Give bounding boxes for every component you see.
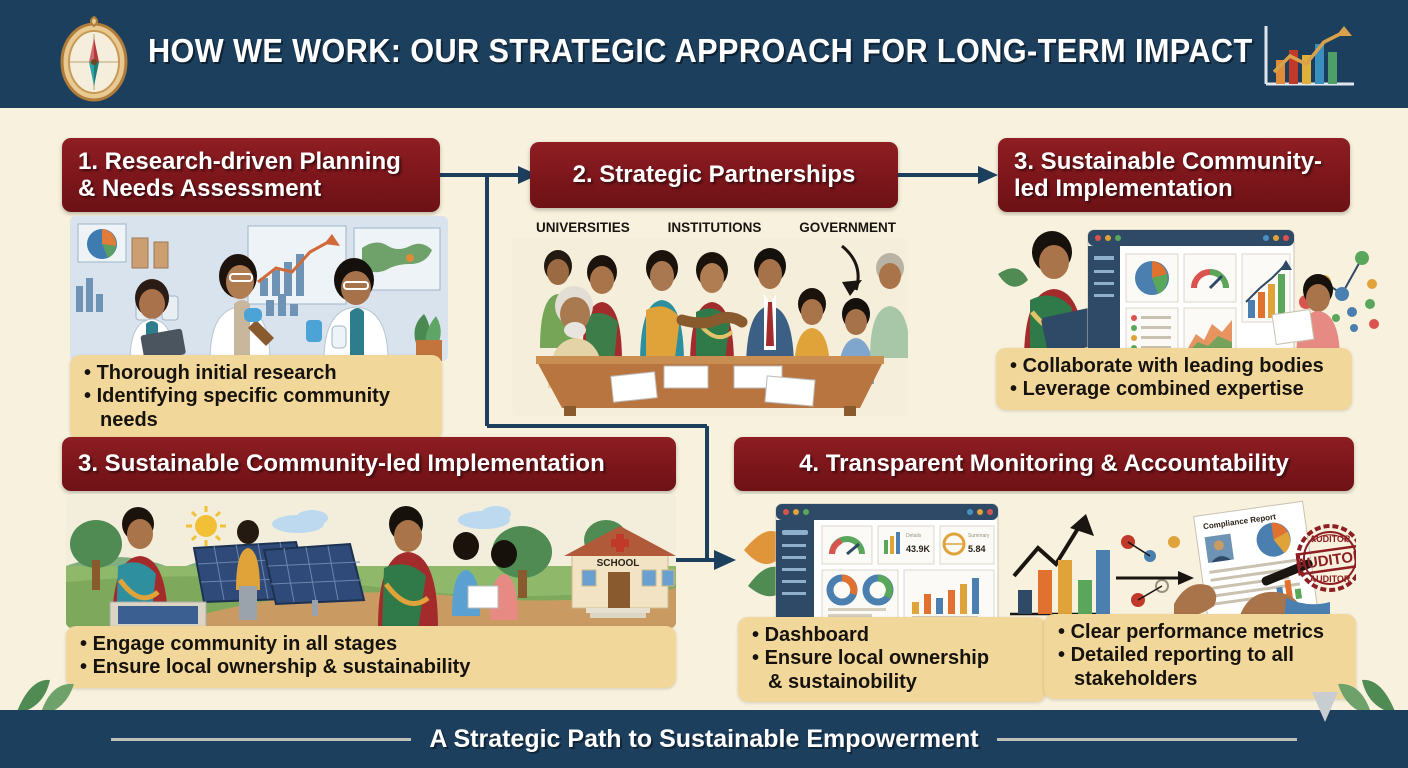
step-2-title: 2. Strategic Partnerships bbox=[573, 161, 856, 188]
kpi-value-1: 43.9K bbox=[906, 544, 931, 554]
step-card-4[interactable]: 4. Transparent Monitoring & Accountabili… bbox=[734, 437, 1354, 491]
step-card-2[interactable]: 2. Strategic Partnerships bbox=[530, 142, 898, 208]
list-item: Identifying specific community needs bbox=[84, 385, 428, 432]
footer-tagline: A Strategic Path to Sustainable Empowerm… bbox=[429, 725, 978, 754]
step-3-top-bullets: Collaborate with leading bodies Leverage… bbox=[996, 348, 1352, 410]
step-1-header: 1. Research-driven Planning & Needs Asse… bbox=[62, 138, 440, 212]
step-4-illustration: Details 43.9K Summary 5.84 bbox=[738, 494, 1356, 622]
step-3-top-header: 3. Sustainable Community- led Implementa… bbox=[998, 138, 1350, 212]
step-1-title: 1. Research-driven Planning & Needs Asse… bbox=[78, 148, 424, 202]
step-card-3-top[interactable]: 3. Sustainable Community- led Implementa… bbox=[998, 138, 1350, 212]
step-3-bottom-bullets: Engage community in all stages Ensure lo… bbox=[66, 626, 676, 688]
infographic-canvas: HOW WE WORK: OUR STRATEGIC APPROACH FOR … bbox=[0, 0, 1408, 768]
step-4-title: 4. Transparent Monitoring & Accountabili… bbox=[799, 450, 1289, 477]
list-item: Detailed reporting to all stakeholders bbox=[1058, 644, 1342, 691]
step-3-bottom-illustration: SCHOOL bbox=[66, 494, 676, 628]
footer-banner: A Strategic Path to Sustainable Empowerm… bbox=[0, 710, 1408, 768]
step-3-bottom-header: 3. Sustainable Community-led Implementat… bbox=[62, 437, 676, 491]
step-1-illustration bbox=[70, 216, 448, 361]
footer-rule-left bbox=[111, 738, 411, 741]
footer-rule-right bbox=[997, 738, 1297, 741]
list-item: Leverage combined expertise bbox=[1010, 378, 1338, 401]
kpi-caption-2: Summary bbox=[968, 533, 990, 539]
list-item: Collaborate with leading bodies bbox=[1010, 355, 1338, 378]
stamp-bottom-label: AUDITOR bbox=[1310, 574, 1351, 584]
kpi-caption-1: Details bbox=[906, 533, 922, 539]
step-4-header: 4. Transparent Monitoring & Accountabili… bbox=[734, 437, 1354, 491]
compass-icon bbox=[57, 12, 132, 102]
school-sign-label: SCHOOL bbox=[597, 558, 640, 569]
partner-label-government: GOVERNMENT bbox=[799, 220, 896, 238]
step-3-bottom-title: 3. Sustainable Community-led Implementat… bbox=[78, 450, 605, 477]
growth-chart-icon bbox=[1258, 22, 1358, 92]
header-banner: HOW WE WORK: OUR STRATEGIC APPROACH FOR … bbox=[0, 0, 1408, 108]
list-item: Dashboard bbox=[752, 624, 1032, 647]
step-card-3-bottom[interactable]: 3. Sustainable Community-led Implementat… bbox=[62, 437, 676, 491]
partner-label-universities: UNIVERSITIES bbox=[536, 220, 630, 238]
list-item: Thorough initial research bbox=[84, 362, 428, 385]
step-card-1[interactable]: 1. Research-driven Planning & Needs Asse… bbox=[62, 138, 440, 212]
step-1-bullets: Thorough initial research Identifying sp… bbox=[70, 355, 442, 440]
list-item: Ensure local ownership & sustainability bbox=[80, 656, 662, 679]
step-4-bullets-right: Clear performance metrics Detailed repor… bbox=[1044, 614, 1356, 699]
page-title: HOW WE WORK: OUR STRATEGIC APPROACH FOR … bbox=[148, 32, 1180, 70]
step-2-partner-labels: UNIVERSITIES INSTITUTIONS GOVERNMENT bbox=[536, 220, 896, 238]
list-item: Clear performance metrics bbox=[1058, 621, 1342, 644]
step-2-header: 2. Strategic Partnerships bbox=[530, 142, 898, 208]
footer-corner-arrow-icon bbox=[1308, 692, 1342, 726]
step-3-top-title: 3. Sustainable Community- led Implementa… bbox=[1014, 148, 1322, 202]
step-4-bullets-left: Dashboard Ensure local ownership & susta… bbox=[738, 617, 1046, 702]
list-item: Engage community in all stages bbox=[80, 633, 662, 656]
step-3-top-illustration bbox=[996, 216, 1384, 361]
kpi-value-2: 5.84 bbox=[968, 544, 986, 554]
list-item: Ensure local ownership & sustainobility bbox=[752, 647, 1032, 694]
partner-label-institutions: INSTITUTIONS bbox=[668, 220, 762, 238]
step-2-illustration bbox=[512, 238, 908, 416]
stamp-top-label: AUDITOR bbox=[1310, 534, 1351, 544]
